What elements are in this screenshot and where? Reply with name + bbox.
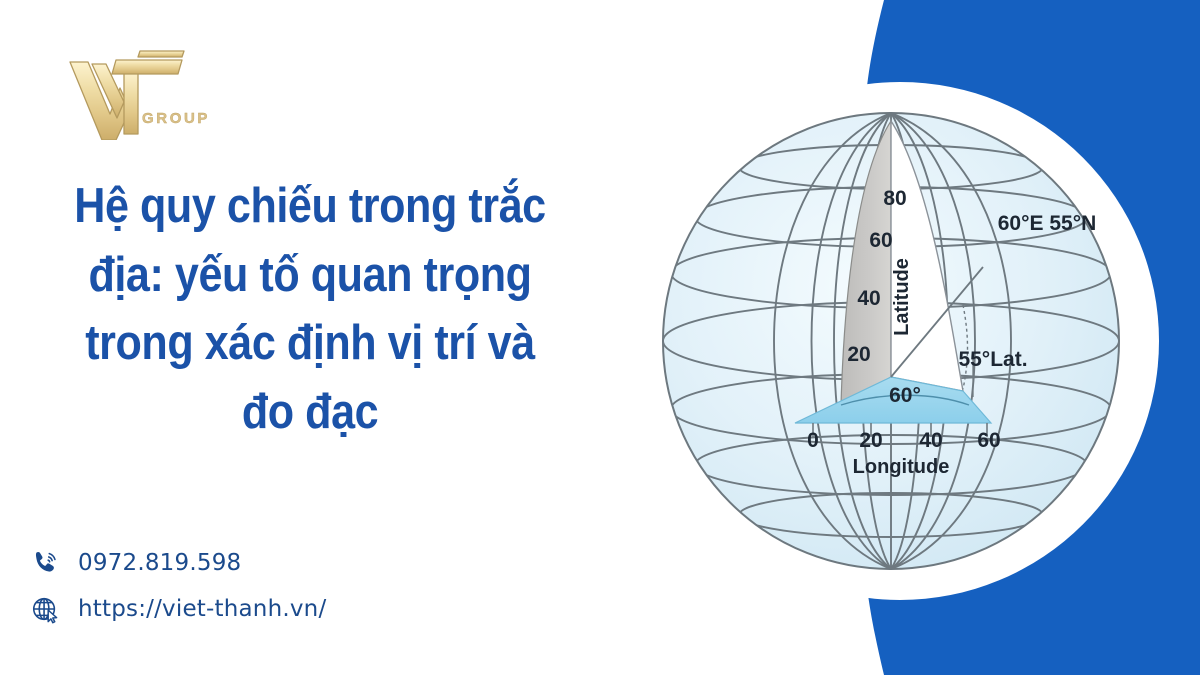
vt-group-logo: GROUP [58,48,208,140]
phone-icon [26,544,64,582]
longitude-tick-40: 40 [919,429,942,452]
contact-row-website[interactable]: https://viet-thanh.vn/ [26,586,466,632]
longitude-angle-label: 60° [889,384,921,407]
title-line-1: Hệ quy chiếu trong trắc [57,172,564,241]
latitude-tick-40: 40 [857,287,880,310]
latitude-axis-label: Latitude [891,258,913,336]
page-title: Hệ quy chiếu trong trắc địa: yếu tố quan… [57,172,564,446]
latitude-tick-80: 80 [883,187,906,210]
globe-illustration: 80 60 40 20 Latitude 60°E 55°N 55°Lat. 6… [655,105,1127,577]
longitude-tick-20: 20 [859,429,882,452]
globe-cursor-icon [26,590,64,628]
longitude-tick-0: 0 [807,429,819,452]
phone-number: 0972.819.598 [78,550,241,576]
title-line-4: đo đạc [57,378,564,447]
point-label-60e-55n: 60°E 55°N [998,212,1097,235]
latitude-tick-60: 60 [869,229,892,252]
contact-row-phone[interactable]: 0972.819.598 [26,540,466,586]
title-line-3: trong xác định vị trí và [57,309,564,378]
poster-canvas: GROUP Hệ quy chiếu trong trắc địa: yếu t… [0,0,1200,675]
longitude-axis-label: Longitude [853,456,950,478]
longitude-tick-60: 60 [977,429,1000,452]
website-url: https://viet-thanh.vn/ [78,596,326,622]
latitude-angle-label: 55°Lat. [958,348,1027,371]
latitude-tick-20: 20 [847,343,870,366]
contact-block: 0972.819.598 https://viet-thanh.vn/ [26,540,466,632]
logo-group-text: GROUP [142,110,208,127]
title-line-2: địa: yếu tố quan trọng [57,241,564,310]
